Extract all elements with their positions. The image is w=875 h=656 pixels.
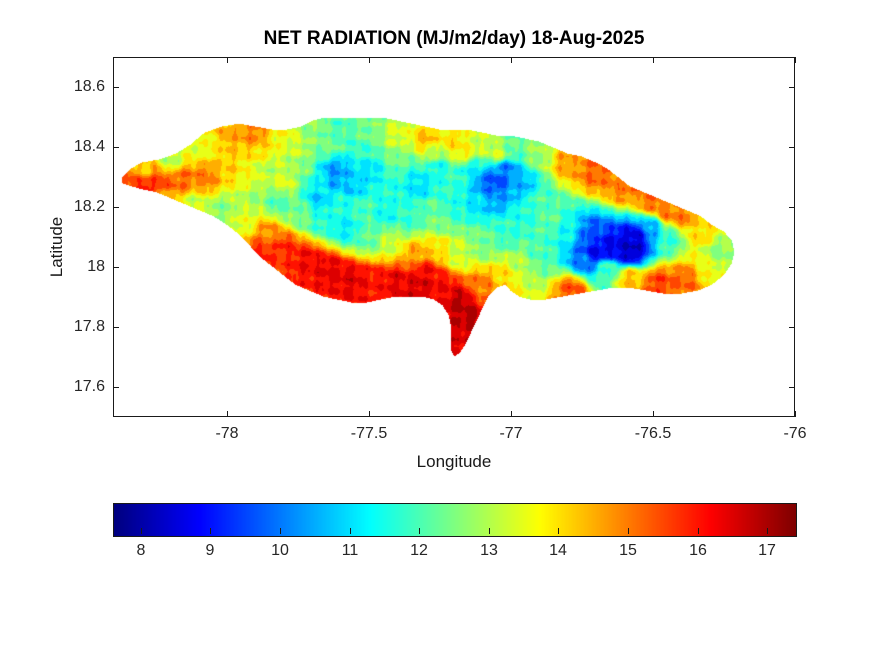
x-tick-mark <box>795 411 796 417</box>
x-tick-mark-top <box>511 57 512 63</box>
net-radiation-map <box>114 58 794 416</box>
y-tick-mark <box>113 327 119 328</box>
y-tick-label: 17.8 <box>25 318 105 336</box>
colorbar-tick-label: 14 <box>549 542 567 560</box>
y-tick-mark-right <box>789 87 795 88</box>
colorbar-tick-label: 17 <box>758 542 776 560</box>
colorbar-tick-label: 13 <box>480 542 498 560</box>
x-tick-label: -77.5 <box>351 425 387 443</box>
x-tick-mark <box>369 411 370 417</box>
x-tick-label: -76.5 <box>635 425 671 443</box>
colorbar-tick-mark <box>210 528 211 534</box>
colorbar-tick-mark <box>280 528 281 534</box>
colorbar-gradient <box>113 503 797 537</box>
x-tick-label: -76 <box>783 425 806 443</box>
colorbar-tick-label: 12 <box>410 542 428 560</box>
y-tick-mark-right <box>789 327 795 328</box>
colorbar <box>113 503 795 535</box>
colorbar-tick-mark <box>141 528 142 534</box>
colorbar-tick-label: 11 <box>342 542 359 560</box>
y-axis-label: Latitude <box>47 177 67 317</box>
y-tick-label: 18.4 <box>25 138 105 156</box>
y-tick-mark-right <box>789 147 795 148</box>
colorbar-tick-mark <box>489 528 490 534</box>
colorbar-tick-mark <box>698 528 699 534</box>
x-tick-mark-top <box>795 57 796 63</box>
x-axis-label: Longitude <box>113 452 795 472</box>
colorbar-tick-label: 8 <box>137 542 146 560</box>
colorbar-tick-label: 10 <box>271 542 289 560</box>
x-tick-mark-top <box>369 57 370 63</box>
x-tick-mark-top <box>653 57 654 63</box>
y-tick-mark <box>113 87 119 88</box>
colorbar-tick-label: 9 <box>206 542 215 560</box>
page-title: NET RADIATION (MJ/m2/day) 18-Aug-2025 <box>113 28 795 50</box>
y-tick-mark <box>113 267 119 268</box>
y-tick-mark <box>113 387 119 388</box>
x-tick-label: -78 <box>215 425 238 443</box>
x-tick-mark-top <box>227 57 228 63</box>
x-tick-mark <box>653 411 654 417</box>
colorbar-tick-mark <box>767 528 768 534</box>
colorbar-tick-label: 15 <box>619 542 637 560</box>
colorbar-tick-mark <box>419 528 420 534</box>
colorbar-tick-mark <box>350 528 351 534</box>
map-axes <box>113 57 795 417</box>
x-tick-label: -77 <box>499 425 522 443</box>
x-tick-mark <box>227 411 228 417</box>
x-tick-mark <box>511 411 512 417</box>
figure-canvas: NET RADIATION (MJ/m2/day) 18-Aug-2025 -7… <box>0 0 875 656</box>
colorbar-tick-label: 16 <box>689 542 707 560</box>
y-tick-mark <box>113 147 119 148</box>
y-tick-mark-right <box>789 207 795 208</box>
y-tick-mark <box>113 207 119 208</box>
colorbar-tick-mark <box>558 528 559 534</box>
y-tick-mark-right <box>789 387 795 388</box>
y-tick-label: 18.6 <box>25 78 105 96</box>
y-tick-label: 17.6 <box>25 378 105 396</box>
colorbar-tick-mark <box>628 528 629 534</box>
y-tick-mark-right <box>789 267 795 268</box>
